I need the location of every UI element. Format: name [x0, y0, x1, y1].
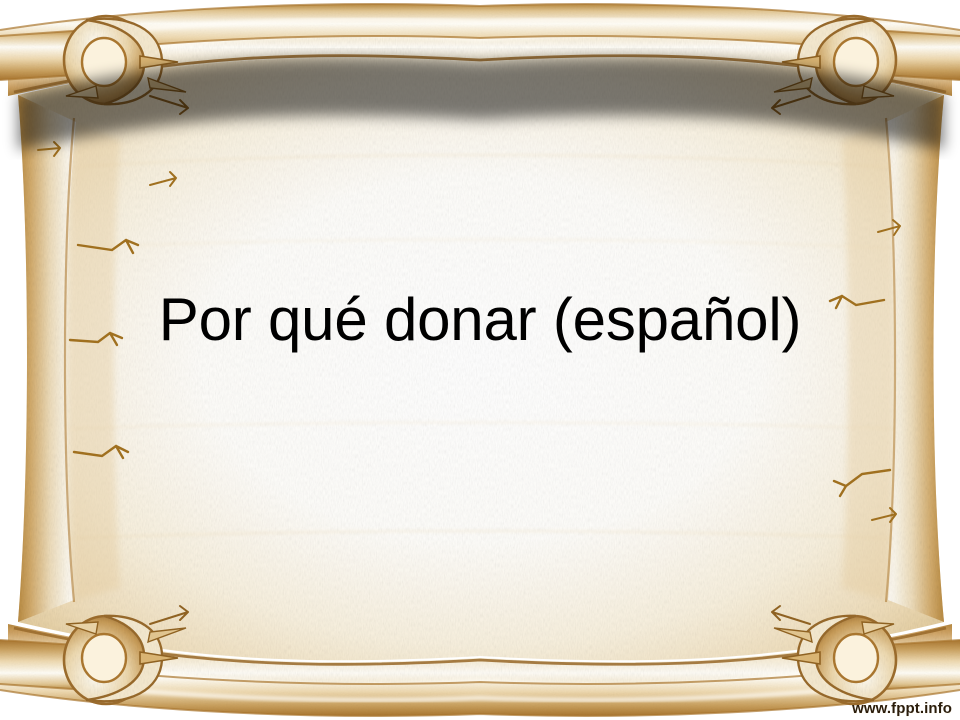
slide-content-layer: Por qué donar (español): [0, 0, 960, 720]
page-title[interactable]: Por qué donar (español): [80, 286, 880, 353]
title-placeholder[interactable]: Por qué donar (español): [80, 286, 880, 353]
slide-canvas: Por qué donar (español) www.fppt.info: [0, 0, 960, 720]
body-placeholder[interactable]: [120, 400, 840, 550]
fppt-watermark[interactable]: www.fppt.info: [852, 700, 952, 717]
